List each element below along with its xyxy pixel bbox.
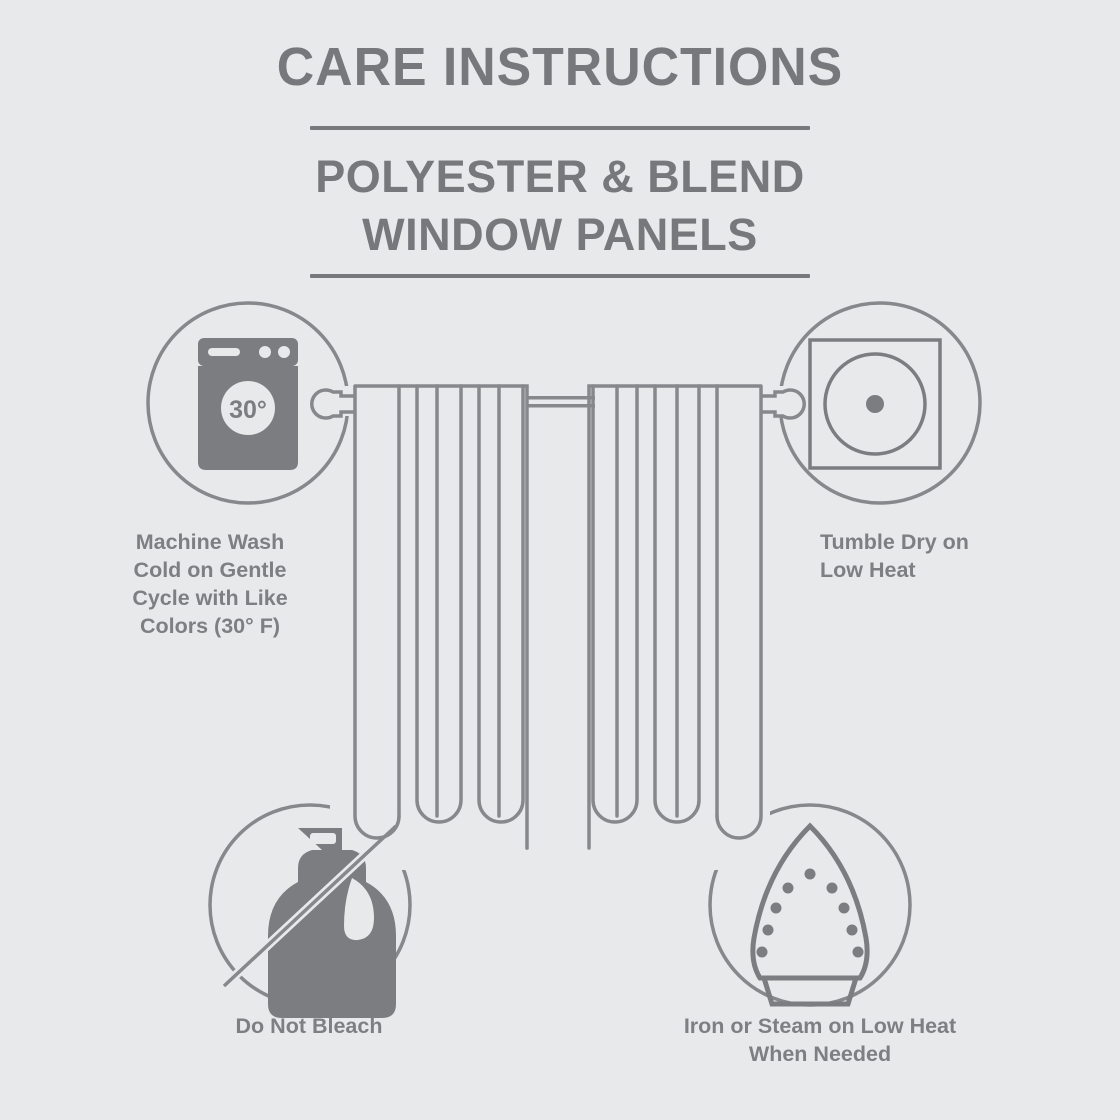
curtain-window-panels bbox=[312, 386, 804, 848]
caption-machine-wash: Machine Wash Cold on Gentle Cycle with L… bbox=[72, 528, 348, 640]
left-curtain-panel bbox=[355, 386, 527, 848]
no-bleach-icon bbox=[224, 826, 396, 1018]
caption-line: Do Not Bleach bbox=[180, 1012, 438, 1040]
caption-line: Tumble Dry on bbox=[820, 528, 1080, 556]
caption-line: Iron or Steam on Low Heat bbox=[610, 1012, 1030, 1040]
care-instructions-infographic: CARE INSTRUCTIONS POLYESTER & BLEND WIND… bbox=[0, 0, 1120, 1120]
iron-symbol-ring bbox=[710, 805, 910, 1005]
caption-line: Machine Wash bbox=[72, 528, 348, 556]
caption-line: Cold on Gentle bbox=[72, 556, 348, 584]
wash-temperature-badge: 30° bbox=[229, 396, 267, 424]
caption-line: When Needed bbox=[610, 1040, 1030, 1068]
curtain-rod bbox=[527, 396, 595, 408]
caption-tumble-dry: Tumble Dry on Low Heat bbox=[820, 528, 1080, 584]
washing-machine-icon: 30° bbox=[198, 338, 298, 470]
tumble-dry-low-icon bbox=[810, 340, 940, 468]
caption-do-not-bleach: Do Not Bleach bbox=[180, 1012, 438, 1040]
caption-line: Colors (30° F) bbox=[72, 612, 348, 640]
iron-icon bbox=[753, 826, 867, 1004]
caption-line: Cycle with Like bbox=[72, 584, 348, 612]
iron-soleplate bbox=[753, 826, 867, 978]
right-curtain-panel bbox=[589, 386, 761, 848]
caption-line: Low Heat bbox=[820, 556, 1080, 584]
right-finial bbox=[761, 390, 804, 418]
caption-iron: Iron or Steam on Low Heat When Needed bbox=[610, 1012, 1030, 1068]
